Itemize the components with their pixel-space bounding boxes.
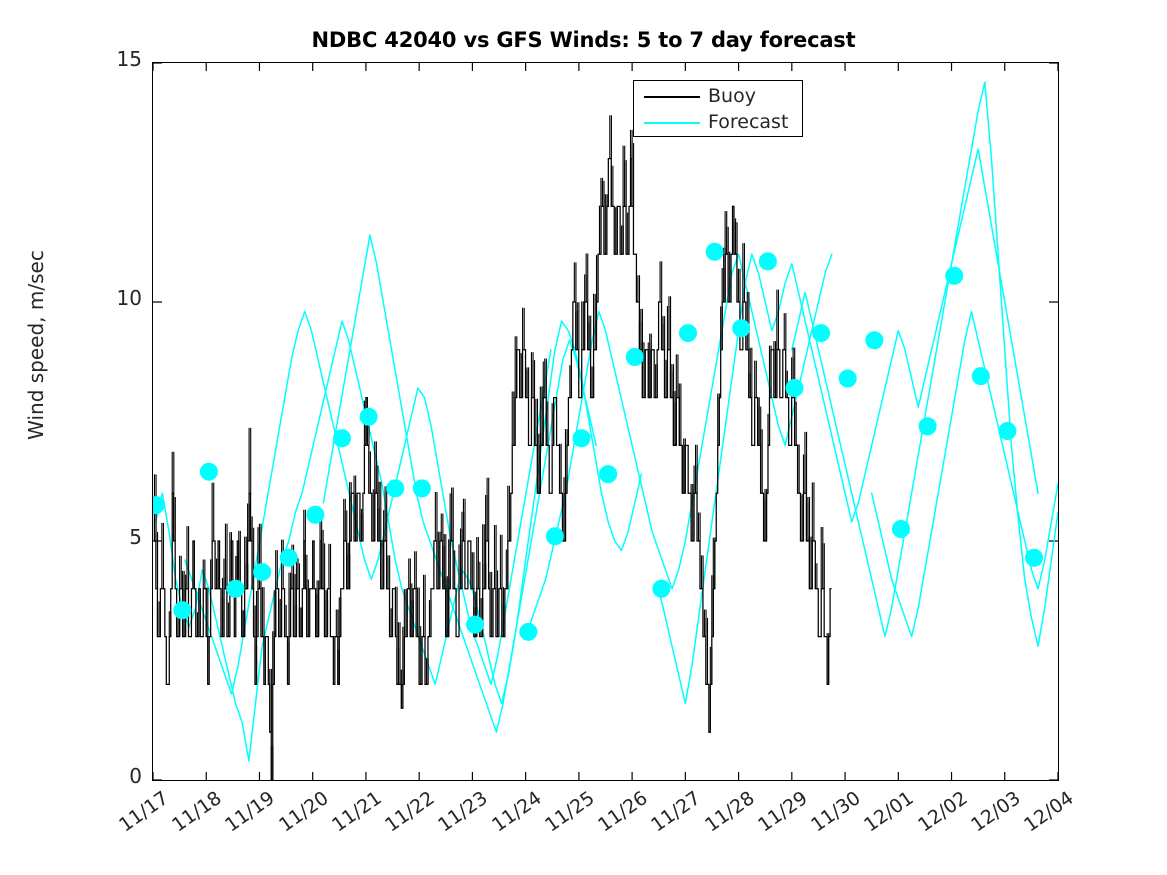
y-axis-tick-labels: 0 5 10 15 <box>0 0 152 875</box>
legend-label-forecast: Forecast <box>708 111 788 133</box>
forecast-marker-points <box>153 243 1043 640</box>
y-tick-label-0: 0 <box>32 766 142 786</box>
legend-swatch-forecast <box>644 122 700 124</box>
y-axis-title: Wind speed, m/sec <box>24 95 48 595</box>
legend[interactable]: Buoy Forecast <box>633 80 803 137</box>
legend-entry-buoy[interactable]: Buoy <box>634 83 804 111</box>
legend-entry-forecast[interactable]: Forecast <box>634 109 804 137</box>
plot-area <box>152 62 1059 781</box>
chart-figure: NDBC 42040 vs GFS Winds: 5 to 7 day fore… <box>0 0 1167 875</box>
legend-label-buoy: Buoy <box>708 85 756 107</box>
plot-canvas <box>153 63 1058 780</box>
legend-swatch-buoy <box>644 96 700 98</box>
y-tick-label-10: 10 <box>32 288 142 308</box>
y-tick-label-5: 5 <box>32 527 142 547</box>
chart-title: NDBC 42040 vs GFS Winds: 5 to 7 day fore… <box>0 28 1167 52</box>
y-tick-label-15: 15 <box>32 49 142 69</box>
